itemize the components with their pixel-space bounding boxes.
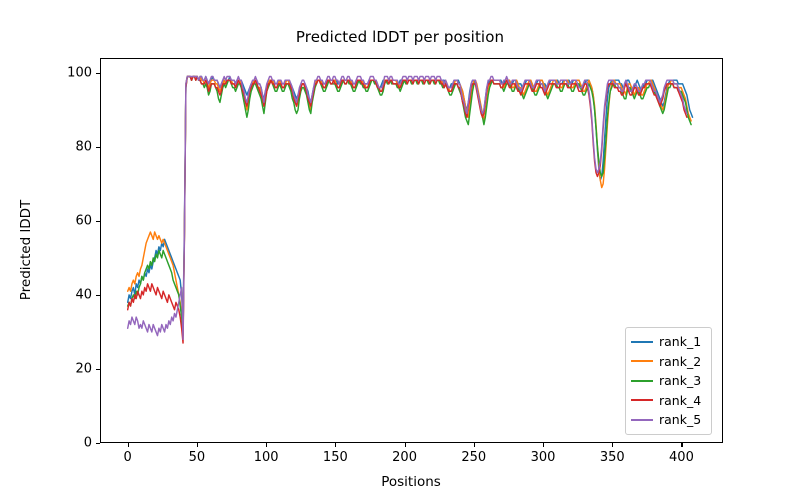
legend-item-label: rank_4 xyxy=(659,393,701,408)
y-tick-mark xyxy=(96,369,100,370)
matplotlib-figure: Predicted lDDT per position Predicted lD… xyxy=(0,0,800,500)
y-tick-mark xyxy=(96,73,100,74)
legend-item-label: rank_3 xyxy=(659,373,701,388)
x-tick-mark xyxy=(335,443,336,447)
y-tick-mark xyxy=(96,295,100,296)
x-tick-label: 350 xyxy=(600,450,625,465)
y-tick-label: 0 xyxy=(50,436,92,451)
legend-item-label: rank_1 xyxy=(659,334,701,349)
legend-color-swatch xyxy=(631,399,653,401)
legend-color-swatch xyxy=(631,380,653,382)
x-tick-mark xyxy=(266,443,267,447)
chart-legend: rank_1rank_2rank_3rank_4rank_5 xyxy=(625,327,712,435)
x-tick-mark xyxy=(474,443,475,447)
x-tick-label: 300 xyxy=(531,450,556,465)
y-tick-label: 80 xyxy=(50,139,92,154)
x-tick-label: 0 xyxy=(124,450,132,465)
x-tick-label: 100 xyxy=(254,450,279,465)
x-tick-mark xyxy=(128,443,129,447)
y-tick-label: 60 xyxy=(50,213,92,228)
legend-color-swatch xyxy=(631,341,653,343)
legend-item-rank_2[interactable]: rank_2 xyxy=(631,352,706,372)
y-tick-label: 40 xyxy=(50,287,92,302)
legend-item-label: rank_5 xyxy=(659,412,701,427)
y-tick-label: 100 xyxy=(50,65,92,80)
page-title: Predicted lDDT per position xyxy=(0,28,800,46)
x-tick-label: 250 xyxy=(461,450,486,465)
x-tick-label: 150 xyxy=(323,450,348,465)
x-tick-mark xyxy=(543,443,544,447)
y-tick-mark xyxy=(96,147,100,148)
y-axis-label: Predicted lDDT xyxy=(18,200,34,300)
y-tick-mark xyxy=(96,443,100,444)
legend-item-rank_4[interactable]: rank_4 xyxy=(631,391,706,411)
x-tick-label: 200 xyxy=(392,450,417,465)
x-tick-label: 400 xyxy=(669,450,694,465)
legend-item-label: rank_2 xyxy=(659,354,701,369)
y-tick-label: 20 xyxy=(50,361,92,376)
legend-color-swatch xyxy=(631,360,653,362)
x-tick-label: 50 xyxy=(189,450,206,465)
legend-color-swatch xyxy=(631,419,653,421)
x-tick-mark xyxy=(681,443,682,447)
legend-item-rank_1[interactable]: rank_1 xyxy=(631,332,706,352)
x-tick-mark xyxy=(197,443,198,447)
legend-item-rank_3[interactable]: rank_3 xyxy=(631,371,706,391)
x-tick-mark xyxy=(405,443,406,447)
legend-item-rank_5[interactable]: rank_5 xyxy=(631,410,706,430)
x-axis-label: Positions xyxy=(381,474,441,490)
x-tick-mark xyxy=(612,443,613,447)
y-tick-mark xyxy=(96,221,100,222)
